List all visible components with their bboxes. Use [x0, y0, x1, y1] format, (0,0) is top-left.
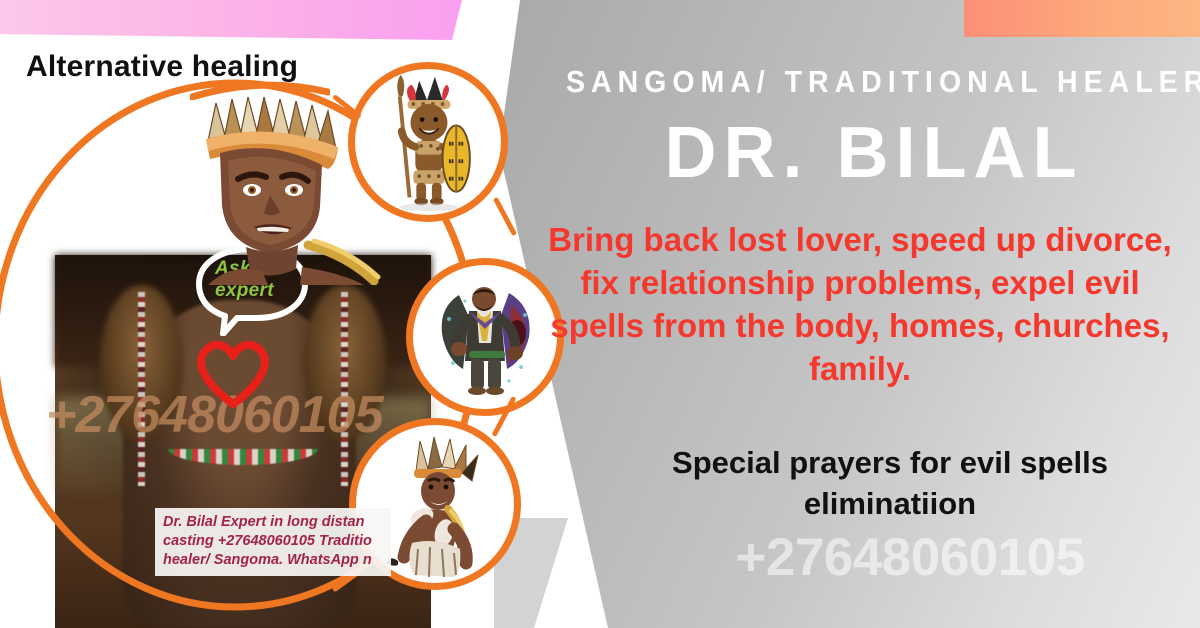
robed-healer-icon: [413, 265, 557, 409]
svg-text:▮▮: ▮▮: [458, 141, 464, 147]
photo-caption: Dr. Bilal Expert in long distan casting …: [155, 508, 391, 576]
special-prayers-text: Special prayers for evil spells eliminat…: [600, 442, 1180, 524]
svg-text:▮▮: ▮▮: [458, 176, 464, 182]
orange-accent-bar: [964, 0, 1200, 37]
poster-canvas: Alternative healing +27648060105 Ask the…: [0, 0, 1200, 628]
zulu-warrior-cartoon-icon: ▮▮▮▮ ▮▮▮▮ ▮▮▮▮: [355, 69, 501, 215]
services-text: Bring back lost lover, speed up divorce,…: [540, 218, 1180, 390]
subtitle-sangoma: SANGOMA/ TRADITIONAL HEALER: [566, 64, 1127, 100]
watermark-phone-right: +27648060105: [620, 527, 1200, 588]
svg-text:▮▮: ▮▮: [458, 158, 464, 164]
svg-text:▮▮: ▮▮: [448, 158, 454, 164]
circle-zulu-warrior: ▮▮▮▮ ▮▮▮▮ ▮▮▮▮: [348, 62, 508, 222]
pink-accent-bar: [0, 0, 462, 40]
svg-text:▮▮: ▮▮: [448, 176, 454, 182]
svg-text:▮▮: ▮▮: [448, 141, 454, 147]
headline-doctor-name: DR. BILAL: [566, 112, 1182, 194]
